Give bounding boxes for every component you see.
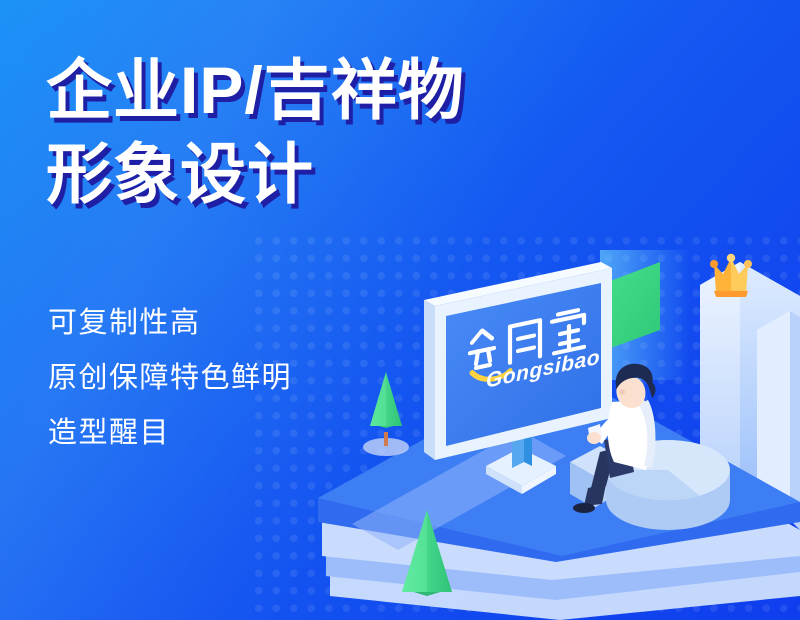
poster-canvas: Gongsibao [0, 0, 800, 620]
headline-line-1: 企业IP/吉祥物 [46, 48, 606, 132]
pillar-medium [757, 311, 800, 540]
headline-block: 企业IP/吉祥物 形象设计 [46, 48, 606, 216]
feature-item-3: 造型醒目 [48, 406, 292, 461]
feature-item-2: 原创保障特色鲜明 [48, 351, 292, 406]
green-panel [600, 262, 660, 352]
crown-icon [710, 254, 752, 297]
tree-large [402, 510, 452, 596]
logo-gongsibao: Gongsibao [470, 306, 600, 397]
cylinder-seat [606, 440, 730, 530]
monitor: Gongsibao [424, 262, 612, 494]
background-dot-pattern [250, 232, 800, 620]
pillar-group [700, 262, 800, 540]
person-on-seat [570, 364, 730, 530]
platform [318, 366, 800, 620]
screen-glow [600, 250, 690, 380]
pillar-tall [700, 262, 800, 500]
logo-latin-text: Gongsibao [486, 346, 600, 393]
headline-line-2: 形象设计 [46, 132, 606, 216]
tree-small [363, 372, 409, 456]
feature-list: 可复制性高 原创保障特色鲜明 造型醒目 [48, 296, 292, 461]
feature-item-1: 可复制性高 [48, 296, 292, 351]
